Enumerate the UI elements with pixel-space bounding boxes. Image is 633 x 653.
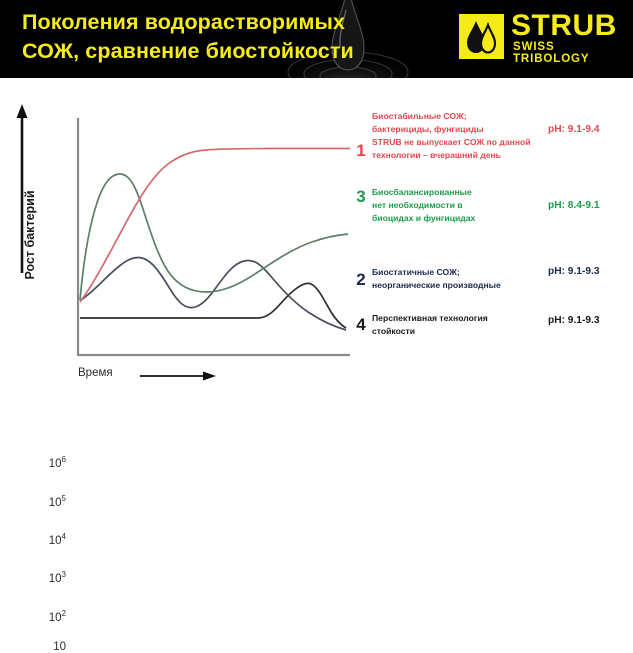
- legend-text-3: Биосбалансированные нет необходимости в …: [372, 186, 532, 225]
- legend-number-1: 1: [352, 142, 370, 159]
- slide-root: Поколения водорастворимых СОЖ, сравнение…: [0, 0, 633, 430]
- x-axis-arrow: [140, 368, 220, 384]
- series-2-line: [81, 257, 346, 330]
- y-tick-10e1: 10: [53, 641, 66, 653]
- bacteria-growth-chart: 106 105 104 103 102 10 Рост бактерий Вре…: [0, 78, 360, 408]
- logo-tagline: SWISS TRIBOLOGY: [513, 42, 621, 65]
- y-tick-10e2: 102: [49, 609, 66, 624]
- series-3-line: [80, 174, 348, 300]
- y-tick-10e3: 103: [49, 570, 66, 585]
- legend-number-4: 4: [352, 316, 370, 333]
- strub-logo: STRUB SWISS TRIBOLOGY: [459, 11, 621, 65]
- legend-ph-1: pH: 9.1-9.4: [548, 124, 600, 135]
- y-tick-10e6: 106: [49, 455, 66, 470]
- legend-text-1: Биостабильные СОЖ; бактерициды, фунгицид…: [372, 110, 547, 162]
- y-axis-label: Рост бактерий: [23, 175, 37, 295]
- logo-name: STRUB: [511, 11, 617, 41]
- flame-droplet-icon: [459, 14, 504, 59]
- legend-text-2: Биостатичные СОЖ; неорганические произво…: [372, 266, 532, 292]
- page-title: Поколения водорастворимых СОЖ, сравнение…: [22, 8, 442, 66]
- series-4-line: [80, 283, 346, 328]
- legend-ph-3: pH: 8.4-9.1: [548, 200, 600, 211]
- legend: 1 Биостабильные СОЖ; бактерициды, фунгиц…: [352, 106, 633, 346]
- x-axis-label: Время: [78, 367, 113, 379]
- legend-ph-2: pH: 9.1-9.3: [548, 266, 600, 277]
- header-band: Поколения водорастворимых СОЖ, сравнение…: [0, 0, 633, 78]
- legend-text-4: Перспективная технология стойкости: [372, 312, 532, 338]
- y-tick-10e5: 105: [49, 494, 66, 509]
- series-1-line: [80, 149, 350, 303]
- legend-number-2: 2: [352, 271, 370, 288]
- legend-ph-4: pH: 9.1-9.3: [548, 315, 600, 326]
- y-tick-10e4: 104: [49, 532, 66, 547]
- legend-number-3: 3: [352, 188, 370, 205]
